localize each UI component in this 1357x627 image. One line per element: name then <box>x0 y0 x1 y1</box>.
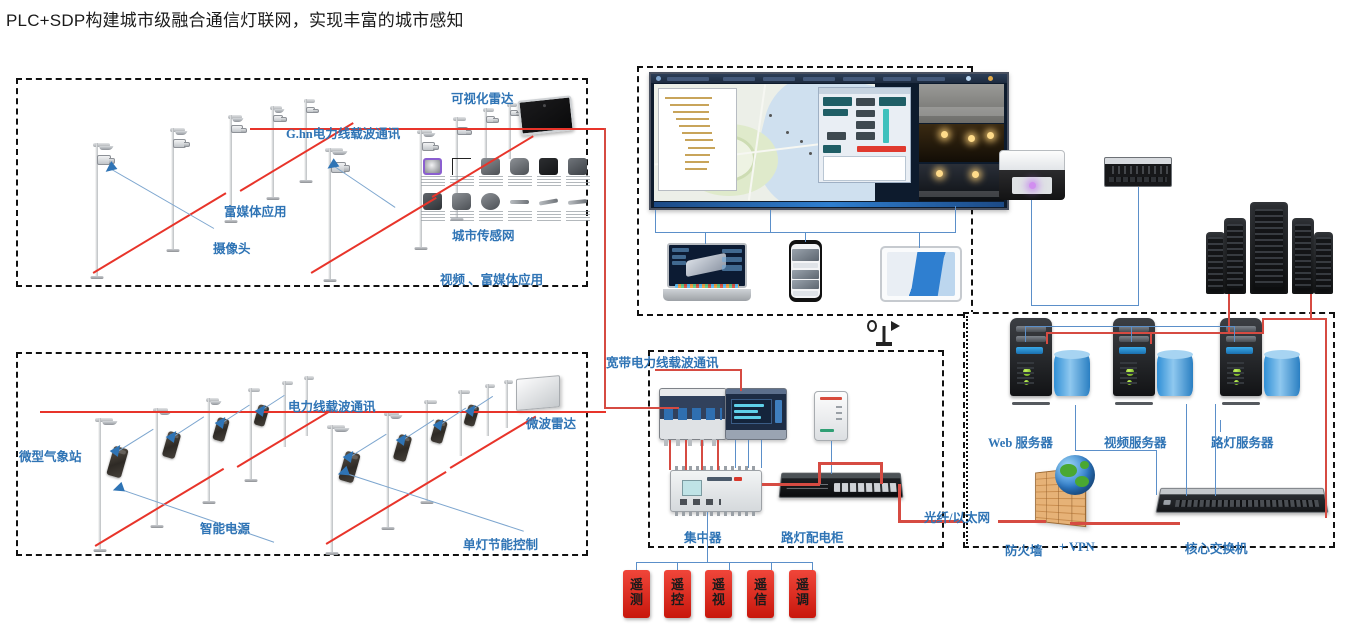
tag-char-1: 遥 <box>789 577 816 592</box>
phone-list-image <box>792 270 819 279</box>
phone-tabbar <box>793 291 819 296</box>
switch-ports <box>834 483 898 492</box>
link-blue <box>919 232 920 248</box>
wire-red <box>701 440 703 470</box>
map-marker[interactable] <box>800 140 803 143</box>
link-blue <box>1138 187 1139 306</box>
wire-blue <box>831 441 832 474</box>
trend-chart <box>823 156 906 181</box>
camera-icon <box>422 142 435 151</box>
globe-landmass <box>1080 461 1089 469</box>
link-red <box>1046 332 1048 344</box>
server-rack <box>1250 202 1288 294</box>
tag-char-2: 测 <box>623 592 650 607</box>
plc-modem-icon <box>814 391 848 441</box>
label-smart-power: 智能电源 <box>200 518 250 537</box>
sensor-icon-rod <box>506 192 534 226</box>
wire-red <box>762 483 820 486</box>
server-tower <box>1113 318 1155 396</box>
laptop-screen <box>667 243 747 288</box>
tag-char-1: 遥 <box>664 577 691 592</box>
laptop-icon <box>663 243 751 301</box>
link-blue <box>1234 326 1235 342</box>
contactor-terminals <box>664 439 722 446</box>
printer-top <box>999 150 1065 171</box>
pole-base <box>167 249 180 252</box>
pole-mast <box>505 380 507 428</box>
link-blue <box>1031 200 1032 306</box>
lamp-glow <box>987 132 994 139</box>
app-logo-icon <box>656 76 661 81</box>
phone-icon-row <box>793 263 819 268</box>
lamp-server-icon <box>1220 318 1300 402</box>
switch-status-led <box>1163 500 1171 505</box>
label-single-lamp-control: 单灯节能控制 <box>463 534 538 553</box>
camera-feed[interactable] <box>919 164 1004 201</box>
tablet-wallpaper <box>910 252 945 296</box>
wire-blue <box>735 440 736 468</box>
server-tower <box>1010 318 1052 396</box>
server-rack <box>1224 218 1246 294</box>
window-titlebar <box>819 88 910 94</box>
level-indicator <box>883 109 889 143</box>
pole-mast <box>487 384 489 436</box>
menu-item[interactable] <box>667 77 709 81</box>
lamp-glow <box>968 135 975 142</box>
antenna-dish-icon <box>867 320 877 332</box>
label-video-server: 视频服务器 <box>1104 432 1167 451</box>
link-blue <box>805 232 806 242</box>
link-blue <box>1025 326 1235 327</box>
link-blue <box>729 562 730 570</box>
link-blue <box>636 562 637 570</box>
pole-mast <box>387 412 389 528</box>
link-blue <box>636 562 812 563</box>
pole-mast <box>250 388 252 480</box>
tag-remote-adjust[interactable]: 遥 调 <box>789 570 816 618</box>
label-fiber-ethernet: 光纤/以太网 <box>924 507 990 526</box>
street-pole <box>86 143 108 277</box>
link-red <box>1262 318 1264 332</box>
link-blue <box>770 210 771 233</box>
server-activity-bar <box>1119 347 1146 354</box>
video-wall-toolbar <box>651 74 1007 83</box>
panel-section-header <box>823 109 848 117</box>
menu-item[interactable] <box>763 77 795 81</box>
link-red <box>1070 522 1180 525</box>
user-avatar[interactable] <box>988 76 993 81</box>
tag-remote-control[interactable]: 遥 控 <box>664 570 691 618</box>
camera-icon <box>486 116 495 123</box>
database-icon <box>1264 354 1300 396</box>
pole-mast <box>426 400 428 502</box>
pole-base <box>94 549 107 552</box>
server-slot <box>1226 336 1256 342</box>
modem-brand-mark <box>820 397 842 400</box>
label-plc-comm: 电力线载波通讯 <box>288 396 376 415</box>
smartphone-icon <box>789 240 822 302</box>
tag-remote-view[interactable]: 遥 视 <box>705 570 732 618</box>
server-rack-cluster-icon <box>1206 196 1334 294</box>
wire-red <box>669 440 671 470</box>
label-visual-radar: 可视化雷达 <box>451 88 514 107</box>
pole-base <box>324 279 337 282</box>
phone-screen <box>791 244 820 298</box>
dashboard-widget <box>722 257 742 263</box>
link-blue <box>1025 326 1026 342</box>
server-rack <box>1314 232 1333 294</box>
tag-char-2: 控 <box>664 592 691 607</box>
server-slot <box>1016 336 1046 342</box>
label-street-light-cabinet: 路灯配电柜 <box>781 527 844 546</box>
pole-base <box>203 501 216 504</box>
pole-mast <box>460 390 462 456</box>
wire-red <box>818 462 821 484</box>
pole-base <box>300 180 313 183</box>
link-blue <box>771 562 772 570</box>
tablet-icon <box>880 246 962 302</box>
server-feet <box>1012 402 1050 405</box>
panel-button[interactable] <box>856 110 876 118</box>
power-meter-icon <box>725 388 787 440</box>
sensor-icon-cube <box>448 192 476 226</box>
link-red <box>998 520 1046 523</box>
camera-feed[interactable] <box>919 124 1004 163</box>
core-switch-icon <box>1155 488 1328 513</box>
globe-landmass <box>1060 464 1077 478</box>
road-strip <box>919 191 1004 197</box>
panel-section-header <box>879 97 906 106</box>
lamp-glow <box>941 131 948 138</box>
contactor-icon <box>659 388 727 440</box>
tag-char-1: 遥 <box>705 577 732 592</box>
link-blue <box>1131 326 1132 342</box>
signal-wave-icon <box>891 321 900 331</box>
modem-brand-mark <box>820 429 834 432</box>
tag-char-1: 遥 <box>623 577 650 592</box>
tag-remote-signal[interactable]: 遥 信 <box>747 570 774 618</box>
panel-tab[interactable] <box>823 145 841 154</box>
tag-char-1: 遥 <box>747 577 774 592</box>
label-vpn: + VPN <box>1059 540 1095 555</box>
pole-base <box>382 527 395 530</box>
pole-base <box>91 276 104 279</box>
street-pole <box>200 398 218 502</box>
wire-red <box>685 440 687 470</box>
pole-mast <box>208 398 210 502</box>
link-red <box>1325 318 1327 518</box>
sensor-icon-panel <box>535 157 563 191</box>
label-city-sensor-net: 城市传感网 <box>452 225 515 244</box>
video-wall[interactable] <box>649 72 1009 210</box>
tag-remote-measure[interactable]: 遥 测 <box>623 570 650 618</box>
link-red <box>1262 318 1327 320</box>
menu-item[interactable] <box>917 77 945 81</box>
label-broadband-plc: 宽带电力线载波通讯 <box>606 352 719 371</box>
street-pole-primary <box>88 418 112 550</box>
label-micro-weather-station: 微型气象站 <box>19 446 82 465</box>
dashboard-widget <box>722 265 742 271</box>
street-pole <box>243 388 259 480</box>
link-red <box>1046 332 1264 334</box>
tablet-screen <box>887 252 955 296</box>
switch-ports <box>1175 500 1320 507</box>
search-icon[interactable] <box>966 76 971 81</box>
phone-hero-image <box>792 249 819 261</box>
link-blue <box>1215 404 1216 496</box>
server-vents <box>1120 362 1137 384</box>
tag-char-2: 视 <box>705 592 732 607</box>
menu-item[interactable] <box>843 77 875 81</box>
label-concentrator: 集中器 <box>684 527 722 546</box>
server-tower <box>1220 318 1262 396</box>
sensor-icon-antenna <box>448 157 476 191</box>
street-pole <box>481 384 495 436</box>
3d-city-model <box>686 253 726 277</box>
link-blue <box>1186 404 1187 496</box>
road-strip <box>919 107 1004 115</box>
camera-icon <box>231 125 243 133</box>
link-blue <box>812 562 813 570</box>
concentrator-logo <box>707 477 732 481</box>
page-title: PLC+SDP构建城市级融合通信灯联网，实现丰富的城市感知 <box>6 6 464 31</box>
device-tree-panel[interactable] <box>658 88 737 191</box>
server-vents <box>1017 362 1034 384</box>
link-blue <box>1220 420 1221 432</box>
wire-blue <box>761 440 762 468</box>
link-red <box>1310 294 1312 318</box>
concentrator-logo-accent <box>734 477 742 481</box>
menu-item[interactable] <box>803 77 835 81</box>
globe-landmass <box>1075 476 1089 487</box>
label-microwave-radar: 微波雷达 <box>526 413 576 432</box>
printer-icon <box>999 150 1065 200</box>
microwave-radar-icon <box>516 375 560 411</box>
concentrator-display <box>682 480 702 496</box>
menu-item[interactable] <box>883 77 911 81</box>
sensor-icon-rod <box>564 192 592 226</box>
dashboard-widget <box>722 249 742 253</box>
pole-base <box>245 479 258 482</box>
link-blue <box>655 210 656 233</box>
camera-icon <box>510 110 518 116</box>
server-feet <box>1222 402 1260 405</box>
micro-weather-station-icon <box>57 400 83 440</box>
link-blue <box>1075 405 1076 451</box>
alarm-bar <box>857 146 906 153</box>
antenna-tower-icon <box>866 320 902 346</box>
tag-char-2: 调 <box>789 592 816 607</box>
sensor-icon-round <box>477 192 505 226</box>
plc-uplink-red <box>740 369 742 391</box>
link-blue <box>1156 450 1157 495</box>
lamp-glow <box>972 171 979 178</box>
control-panel-window[interactable] <box>818 87 911 183</box>
panel-button[interactable] <box>856 98 876 106</box>
rack-ports <box>1109 177 1167 183</box>
laptop-dock <box>675 284 738 288</box>
server-rack <box>1292 218 1314 294</box>
meter-display <box>731 399 772 424</box>
pole-mast <box>99 418 101 550</box>
video-server-icon <box>1113 318 1193 402</box>
link-blue <box>1031 305 1139 306</box>
panel-button[interactable] <box>827 132 847 140</box>
sensor-icon-rod <box>535 192 563 226</box>
pole-base <box>326 552 339 555</box>
database-icon <box>1054 354 1090 396</box>
server-activity-bar <box>1226 347 1253 354</box>
label-web-server: Web 服务器 <box>988 432 1053 451</box>
camera-feed[interactable] <box>919 84 1004 123</box>
lamp-glow <box>936 170 943 177</box>
server-rack <box>1206 232 1225 294</box>
sensor-icon-dome <box>419 157 447 191</box>
panel-button[interactable] <box>856 121 876 129</box>
visual-radar-display-icon <box>517 95 574 135</box>
pole-base <box>151 525 164 528</box>
menu-item[interactable] <box>723 77 755 81</box>
link-blue <box>677 562 678 570</box>
concentrator-buttons[interactable] <box>680 499 721 505</box>
server-feet <box>1115 402 1153 405</box>
panel-button[interactable] <box>856 132 876 140</box>
video-wall-statusbar <box>654 202 1004 207</box>
dashboard-widget <box>672 261 686 265</box>
server-slot <box>1119 336 1149 342</box>
pole-base <box>415 247 428 250</box>
database-icon <box>1157 354 1193 396</box>
pole-mast <box>331 425 333 553</box>
rack-fins <box>1108 166 1169 174</box>
concentrator-icon <box>670 470 762 512</box>
wire-red <box>818 462 882 465</box>
label-video-richmedia-footer: 视频 、富媒体应用 <box>440 269 543 288</box>
sensor-icon-screen <box>564 157 592 191</box>
camera-icon <box>173 139 186 148</box>
laptop-base <box>663 289 751 301</box>
wire-red <box>880 462 883 484</box>
map-marker[interactable] <box>809 152 812 155</box>
modem-leds <box>836 406 842 422</box>
server-activity-bar <box>1016 347 1043 354</box>
street-pole <box>500 380 513 428</box>
pole-base <box>267 197 280 200</box>
server-vents <box>1227 362 1244 384</box>
concentrator-terminals-bottom <box>675 511 758 516</box>
label-firewall: 防火墙 <box>1005 540 1043 559</box>
tower-base <box>876 342 892 346</box>
plc-uplink-red <box>604 407 679 409</box>
sensor-icon-detector <box>506 157 534 191</box>
link-blue <box>955 206 956 233</box>
concentrator-terminals-top <box>675 466 758 471</box>
link-red <box>1150 332 1152 344</box>
camera-icon <box>273 115 283 122</box>
wire-red <box>898 484 901 523</box>
meter-side-panel <box>775 400 782 423</box>
rack-appliance-icon <box>1104 157 1172 187</box>
dashboard-widget <box>672 255 686 259</box>
contactor-buttons <box>664 408 722 420</box>
camera-icon <box>306 107 315 113</box>
dashboard-widget <box>672 248 689 252</box>
street-pole <box>163 128 183 250</box>
datacenter-inner-divider <box>966 316 968 544</box>
web-server-icon <box>1010 318 1090 402</box>
wire-blue <box>748 440 749 468</box>
phone-list-image <box>792 280 819 289</box>
link-blue <box>707 512 708 562</box>
label-rich-media: 富媒体应用 <box>224 201 287 220</box>
pole-base <box>225 220 238 223</box>
link-blue <box>705 232 706 244</box>
city-sensor-grid <box>419 157 592 226</box>
wire-red <box>717 440 719 470</box>
internet-globe-icon <box>1055 455 1095 495</box>
link-blue <box>1075 450 1157 451</box>
label-lamp-server: 路灯服务器 <box>1211 432 1274 451</box>
tag-char-2: 信 <box>747 592 774 607</box>
panel-section-header <box>823 97 852 106</box>
label-camera: 摄像头 <box>213 238 251 257</box>
street-pole <box>265 106 281 198</box>
label-ghn-plc: G.hn电力线载波通讯 <box>286 123 400 142</box>
camera-feed-group <box>919 84 1004 201</box>
label-core-switch: 核心交换机 <box>1185 538 1248 557</box>
